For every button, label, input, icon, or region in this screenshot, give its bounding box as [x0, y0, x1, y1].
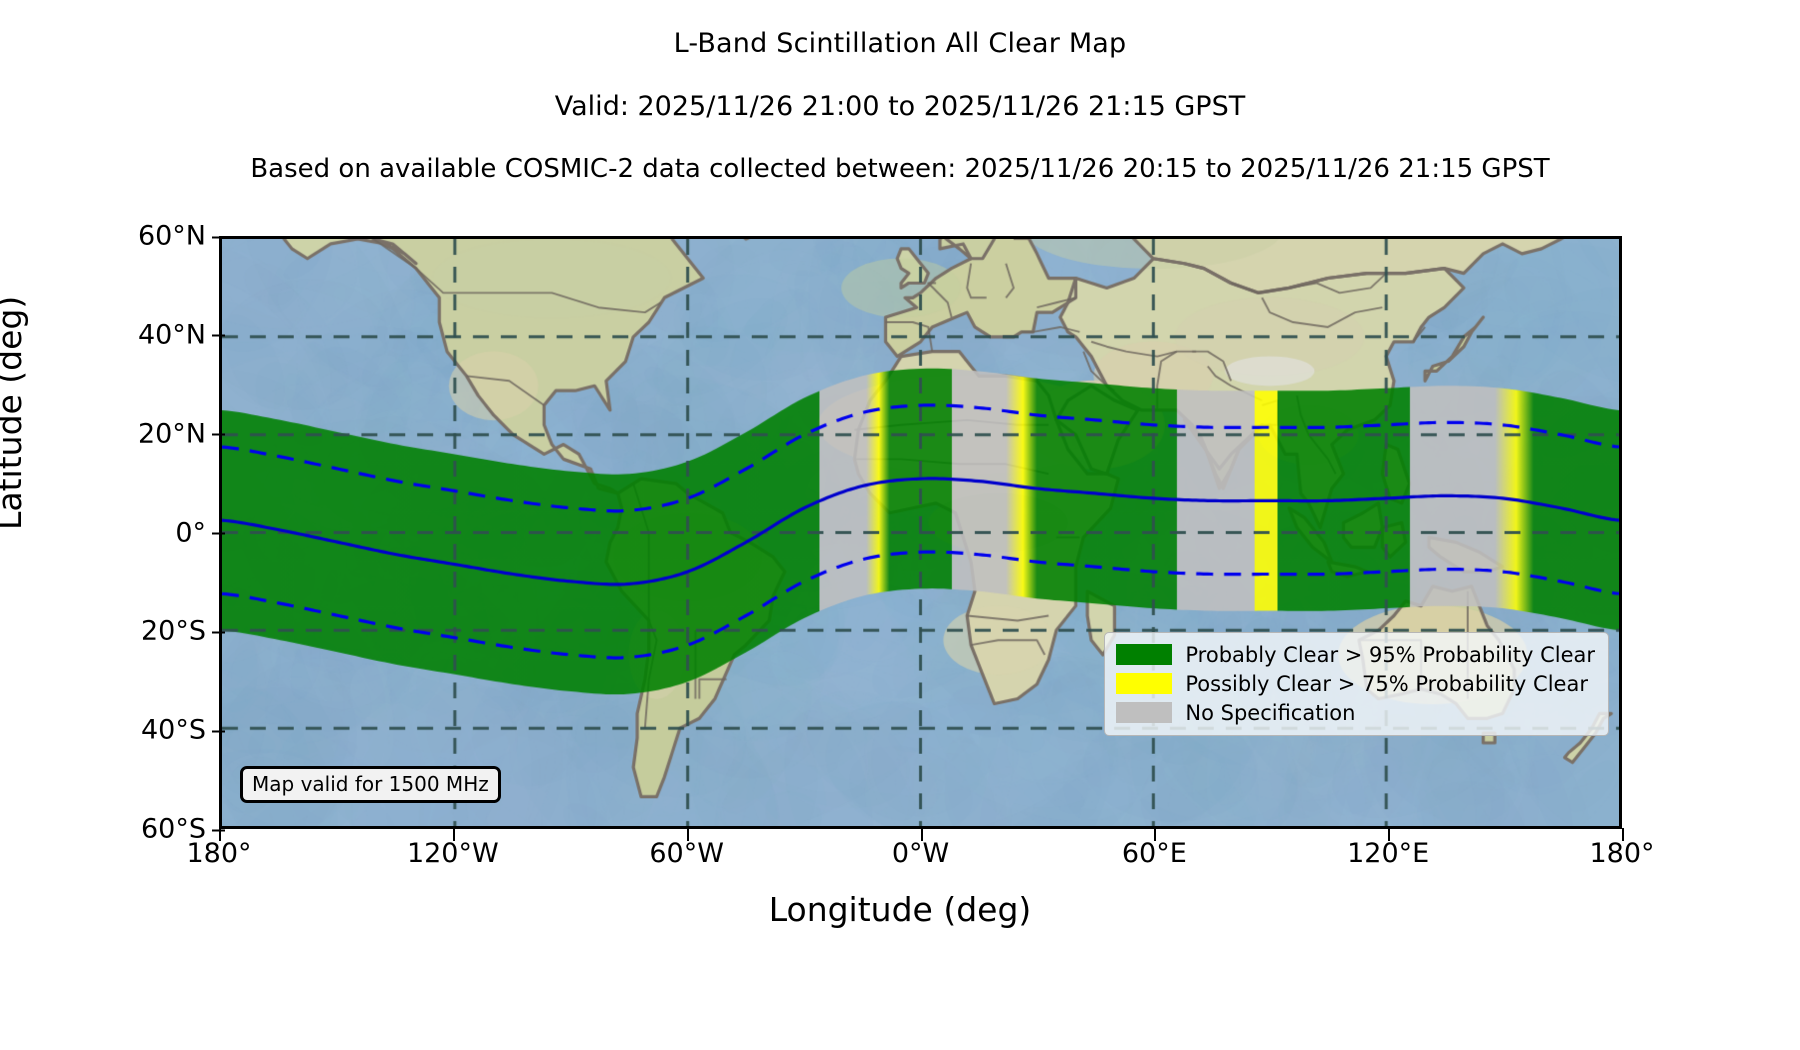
- basis-subtitle: Based on available COSMIC-2 data collect…: [0, 154, 1800, 184]
- x-tick-mark: [921, 828, 923, 841]
- legend-item-probably-clear: Probably Clear > 95% Probability Clear: [1116, 640, 1595, 669]
- y-tick-label: 40°S: [6, 715, 206, 746]
- legend-swatch-probably-clear: [1116, 644, 1172, 665]
- y-tick-mark: [212, 533, 225, 535]
- legend: Probably Clear > 95% Probability ClearPo…: [1104, 632, 1609, 736]
- y-tick-mark: [212, 730, 225, 732]
- legend-swatch-no-specification: [1116, 702, 1172, 723]
- x-tick-mark: [1622, 828, 1624, 841]
- valid-subtitle: Valid: 2025/11/26 21:00 to 2025/11/26 21…: [0, 91, 1800, 122]
- y-tick-mark: [212, 335, 225, 337]
- x-tick-mark: [1154, 828, 1156, 841]
- y-tick-label: 20°N: [6, 418, 206, 449]
- y-tick-mark: [212, 236, 225, 238]
- legend-label: No Specification: [1185, 701, 1355, 725]
- scintillation-overlay: [222, 239, 1619, 826]
- y-tick-mark: [212, 631, 225, 633]
- map-plot-area[interactable]: Map valid for 1500 MHz Probably Clear > …: [219, 236, 1622, 829]
- legend-swatch-possibly-clear: [1116, 673, 1172, 694]
- figure-root: L-Band Scintillation All Clear Map Valid…: [0, 0, 1800, 1050]
- x-tick-label: 60°E: [1034, 838, 1274, 869]
- x-tick-label: 120°W: [333, 838, 573, 869]
- y-tick-mark: [212, 434, 225, 436]
- x-tick-mark: [1388, 828, 1390, 841]
- title-block: L-Band Scintillation All Clear Map Valid…: [0, 0, 1800, 184]
- x-tick-mark: [687, 828, 689, 841]
- legend-item-no-specification: No Specification: [1116, 698, 1595, 727]
- x-tick-mark: [219, 828, 221, 841]
- x-tick-label: 180°: [1502, 838, 1742, 869]
- y-tick-label: 40°N: [6, 319, 206, 350]
- y-tick-label: 60°N: [6, 221, 206, 252]
- x-tick-label: 0°W: [801, 838, 1041, 869]
- x-tick-mark: [453, 828, 455, 841]
- x-axis-label: Longitude (deg): [0, 890, 1800, 929]
- x-tick-label: 60°W: [567, 838, 807, 869]
- x-tick-label: 180°: [99, 838, 339, 869]
- frequency-annotation: Map valid for 1500 MHz: [240, 766, 501, 803]
- y-tick-label: 20°S: [6, 616, 206, 647]
- legend-label: Possibly Clear > 75% Probability Clear: [1185, 672, 1588, 696]
- legend-item-possibly-clear: Possibly Clear > 75% Probability Clear: [1116, 669, 1595, 698]
- legend-label: Probably Clear > 95% Probability Clear: [1185, 643, 1595, 667]
- x-tick-label: 120°E: [1268, 838, 1508, 869]
- y-tick-label: 0°: [6, 517, 206, 548]
- chart-title: L-Band Scintillation All Clear Map: [0, 28, 1800, 59]
